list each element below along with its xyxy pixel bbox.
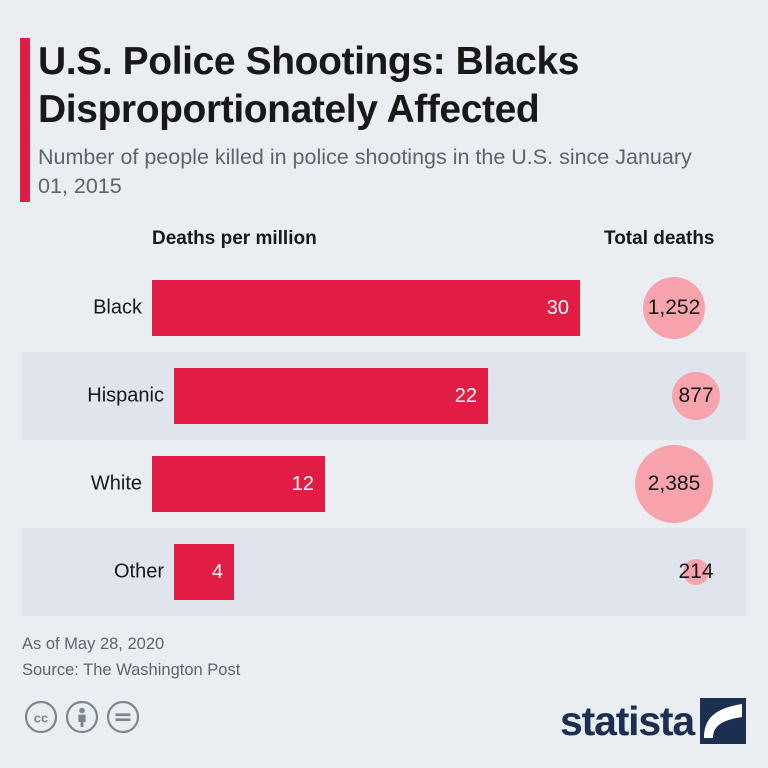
chart-rows: Black 30 1,252 Hispanic 22	[0, 264, 768, 616]
bar-value: 12	[292, 473, 325, 496]
creative-commons-license-icons[interactable]: cc	[24, 700, 140, 734]
bar-deaths-per-million: 22	[174, 368, 488, 424]
total-deaths-value: 214	[678, 560, 713, 584]
table-row[interactable]: Hispanic 22 877	[22, 352, 746, 440]
row-label: White	[0, 473, 142, 496]
table-row[interactable]: Other 4 214	[22, 528, 746, 616]
as-of-date: As of May 28, 2020	[22, 632, 240, 658]
no-derivatives-equals-icon[interactable]	[106, 700, 140, 734]
total-deaths-cell: 1,252	[604, 264, 744, 352]
bar-deaths-per-million: 4	[174, 544, 234, 600]
bar-value: 22	[455, 385, 488, 408]
total-deaths-value: 877	[678, 384, 713, 408]
svg-text:cc: cc	[34, 711, 48, 726]
statista-wordmark: statista	[560, 701, 694, 742]
attribution-person-icon[interactable]	[65, 700, 99, 734]
column-header-total-deaths: Total deaths	[604, 228, 715, 250]
bar-deaths-per-million: 30	[152, 280, 580, 336]
table-row[interactable]: Black 30 1,252	[0, 264, 768, 352]
title-accent-bar	[20, 38, 30, 202]
total-deaths-cell: 214	[626, 528, 766, 616]
column-headers: Deaths per million Total deaths	[0, 228, 768, 258]
bar-value: 4	[212, 561, 234, 584]
statista-square-icon	[700, 698, 746, 744]
bottom-bar: cc statista	[0, 698, 768, 754]
page-title: U.S. Police Shootings: Blacks Disproport…	[38, 38, 698, 133]
footer-notes: As of May 28, 2020 Source: The Washingto…	[22, 632, 240, 683]
bar-value: 30	[547, 297, 580, 320]
total-deaths-cell: 2,385	[604, 440, 744, 528]
creative-commons-icon[interactable]: cc	[24, 700, 58, 734]
statista-logo[interactable]: statista	[560, 698, 746, 744]
row-label: Other	[22, 561, 164, 584]
bar-deaths-per-million: 12	[152, 456, 325, 512]
total-deaths-value: 1,252	[648, 296, 701, 320]
table-row[interactable]: White 12 2,385	[0, 440, 768, 528]
chart-area: Deaths per million Total deaths Black 30…	[0, 228, 768, 616]
row-label: Black	[0, 297, 142, 320]
total-deaths-cell: 877	[626, 352, 766, 440]
page-subtitle: Number of people killed in police shooti…	[38, 143, 698, 200]
source-note: Source: The Washington Post	[22, 658, 240, 684]
header: U.S. Police Shootings: Blacks Disproport…	[0, 0, 768, 200]
row-label: Hispanic	[22, 385, 164, 408]
total-deaths-value: 2,385	[648, 472, 701, 496]
column-header-deaths-per-million: Deaths per million	[152, 228, 317, 250]
